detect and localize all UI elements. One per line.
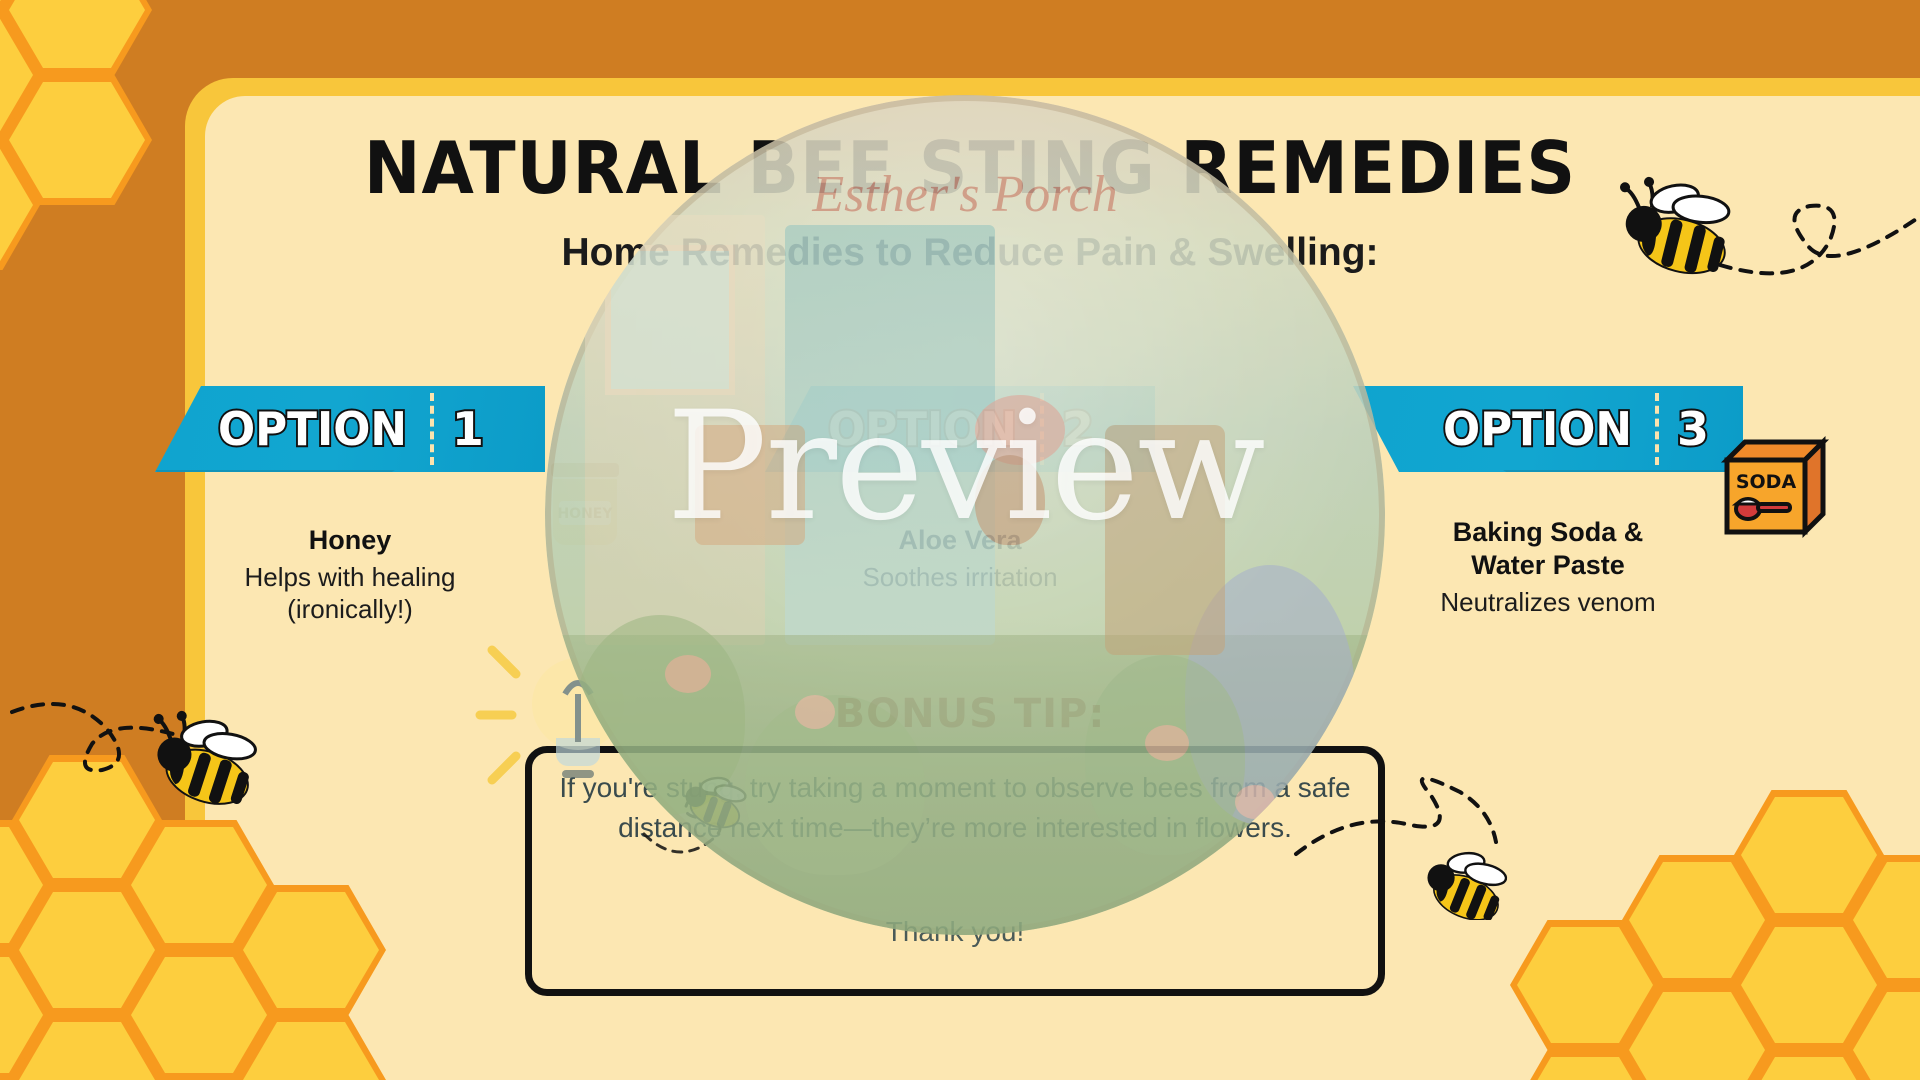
- poster-stage: Natural Bee Sting Remedies Home Remedies…: [0, 0, 1920, 1080]
- soda-box-icon: SODA: [1715, 432, 1835, 542]
- svg-text:SODA: SODA: [1736, 471, 1797, 493]
- option-title-3: Baking Soda & Water Paste: [1353, 516, 1743, 582]
- option-label-3: OPTION: [1443, 402, 1632, 456]
- option-title-1: Honey: [155, 524, 545, 557]
- option-number-1: 1: [452, 402, 484, 456]
- bee-icon-top-right: [1620, 150, 1920, 290]
- option-desc-3: Neutralizes venom: [1353, 586, 1743, 619]
- option-number-3: 3: [1677, 402, 1709, 456]
- ribbon-tail-icon: [1503, 470, 1743, 512]
- option-card-1: OPTION 1 Honey Helps with healing (ironi…: [155, 386, 545, 626]
- porch-window: [605, 245, 735, 395]
- option-ribbon-1[interactable]: OPTION 1: [155, 386, 545, 472]
- ribbon-divider: [430, 393, 434, 465]
- option-desc-1: Helps with healing (ironically!): [155, 561, 545, 626]
- ribbon-divider: [1655, 393, 1659, 465]
- option-label-1: OPTION: [218, 402, 407, 456]
- bee-icon-left: [10, 670, 310, 810]
- ribbon-tail-icon: [155, 470, 395, 512]
- option-ribbon-3[interactable]: OPTION 3: [1353, 386, 1743, 472]
- porch-sign-text: Esther's Porch: [812, 165, 1117, 224]
- preview-watermark-text: Preview: [545, 380, 1385, 554]
- option-card-3: OPTION 3 Baking Soda & Water Paste Neutr…: [1353, 386, 1743, 618]
